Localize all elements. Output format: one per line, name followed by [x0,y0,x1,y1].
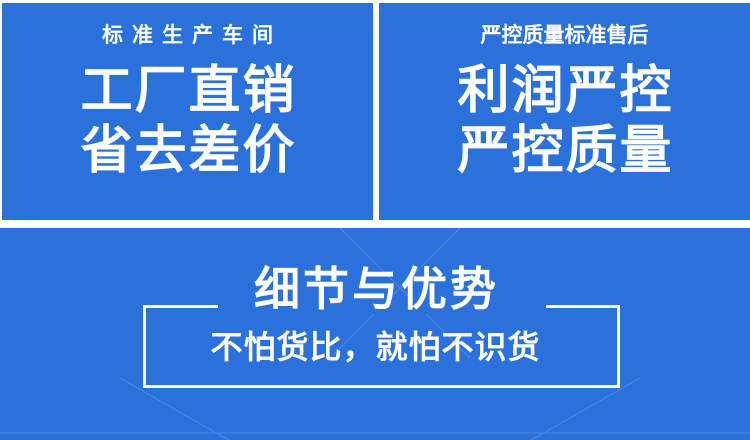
panel-factory-direct-content: 标准生产车间 工厂直销 省去差价 [2,3,373,220]
panel-details-advantages: 细节与优势 不怕货比，就怕不识货 [0,228,750,440]
eyebrow-quality-aftersales: 严控质量标准售后 [481,25,649,46]
headline-quality-control-line1: 利润严控 [455,62,673,120]
eyebrow-standard-workshop: 标准生产车间 [93,25,282,46]
details-advantages-title: 细节与优势 [0,266,750,312]
headline-quality-control-line2: 严控质量 [455,122,673,180]
panel-quality-control: 严控质量标准售后 利润严控 严控质量 [379,3,750,220]
headline-factory-direct-line1: 工厂直销 [78,62,296,120]
promo-banner: 标准生产车间 工厂直销 省去差价 严控质量标准售后 利润严控 严控质量 细节与优… [0,0,750,440]
panel-quality-control-content: 严控质量标准售后 利润严控 严控质量 [379,3,750,220]
headline-factory-direct-line2: 省去差价 [78,122,296,180]
details-advantages-subtitle: 不怕货比，就怕不识货 [0,331,750,363]
panel-factory-direct: 标准生产车间 工厂直销 省去差价 [2,3,373,220]
